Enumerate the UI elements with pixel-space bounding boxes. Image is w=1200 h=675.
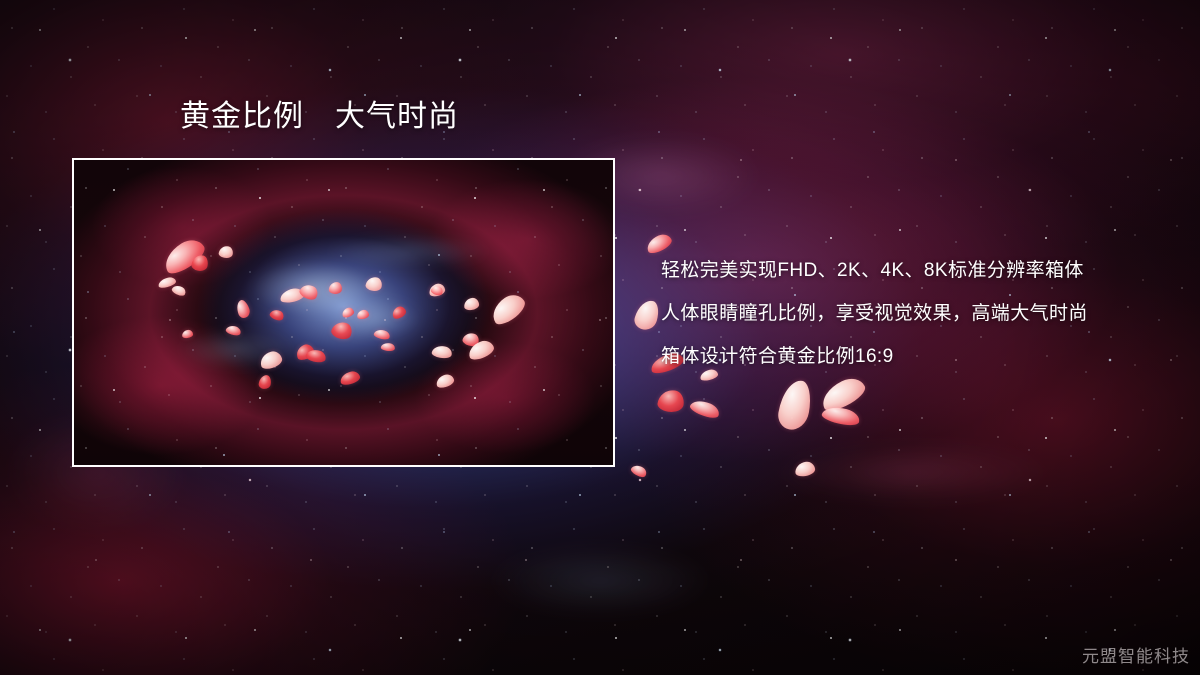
body-line: 轻松完美实现FHD、2K、4K、8K标准分辨率箱体 [661,256,1161,299]
image-frame-panel [72,158,615,467]
petal-icon [821,404,862,429]
body-copy: 轻松完美实现FHD、2K、4K、8K标准分辨率箱体 人体眼睛瞳孔比例，享受视觉效… [661,256,1161,385]
body-line: 人体眼睛瞳孔比例，享受视觉效果，高端大气时尚 [661,299,1161,342]
slide-canvas: 黄金比例 大气时尚 轻松完美实现FHD、2K、4K、8K标准分辨率箱体 人体眼睛… [0,0,1200,675]
panel-starfield-medium-icon [74,160,613,465]
petal-icon [632,298,661,333]
body-line: 箱体设计符合黄金比例16:9 [661,342,1161,385]
petal-icon [688,397,721,421]
petal-icon [794,461,816,478]
petal-icon [657,388,686,413]
petal-icon [644,231,674,255]
petal-icon [630,463,649,480]
brand-watermark: 元盟智能科技 [1082,642,1190,667]
page-title: 黄金比例 大气时尚 [180,100,459,135]
petal-icon [776,378,814,432]
